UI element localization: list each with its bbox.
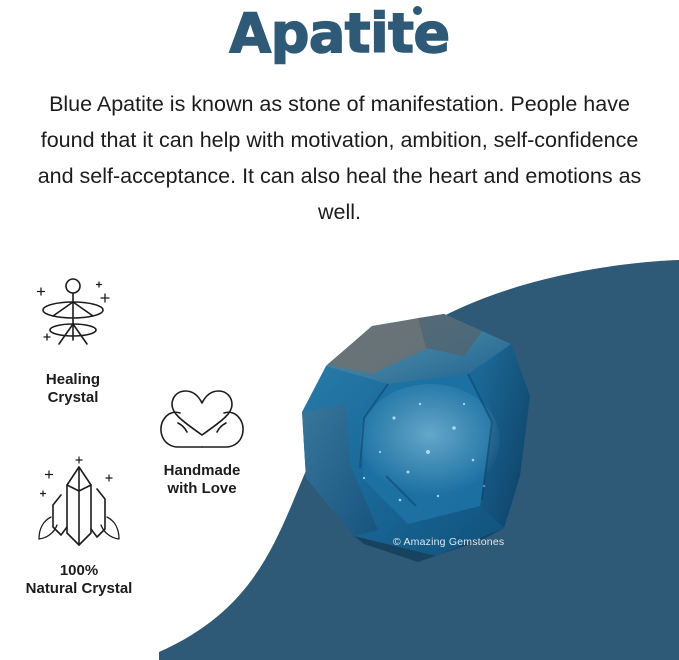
badge-label: 100% Natural Crystal [14,562,144,598]
image-credit: © Amazing Gemstones [393,536,504,548]
apatite-stone-image: © Amazing Gemstones [268,300,578,580]
description-text: Blue Apatite is known as stone of manife… [22,86,657,230]
title-heart-dot-icon [413,6,422,15]
badge-natural-crystal: 100% Natural Crystal [14,455,144,598]
badge-handmade-with-love: Handmade with Love [140,355,264,498]
crystal-point-icon [14,455,144,556]
heart-in-hands-icon [140,355,264,456]
page-title: Apatite [0,2,679,65]
badge-label: Healing Crystal [14,371,132,407]
badge-label: Handmade with Love [140,462,264,498]
badge-healing-crystal: Healing Crystal [14,272,132,407]
healing-person-icon [14,272,132,365]
